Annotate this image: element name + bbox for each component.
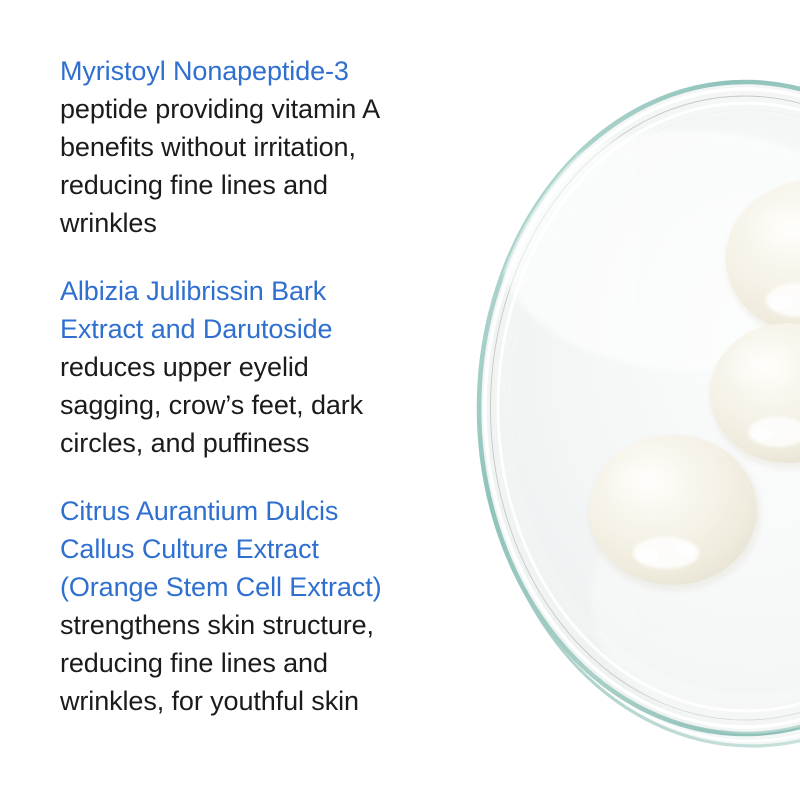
- droplet-top: [726, 180, 800, 342]
- ingredient-item: Myristoyl Nonapeptide-3 peptide providin…: [60, 52, 472, 242]
- ingredient-description: peptide providing vitamin A benefits wit…: [60, 90, 472, 242]
- dish-rim: [479, 82, 800, 734]
- dish-interior: [500, 114, 800, 740]
- ingredient-item: Albizia Julibrissin Bark Extract and Dar…: [60, 272, 472, 462]
- ingredient-name: Citrus Aurantium Dulcis Callus Culture E…: [60, 492, 472, 606]
- droplet-middle: [710, 323, 800, 469]
- product-ingredient-panel: Myristoyl Nonapeptide-3 peptide providin…: [0, 0, 800, 800]
- ingredient-list: Myristoyl Nonapeptide-3 peptide providin…: [60, 52, 472, 720]
- ingredient-name: Myristoyl Nonapeptide-3: [60, 52, 472, 90]
- ingredient-item: Citrus Aurantium Dulcis Callus Culture E…: [60, 492, 472, 720]
- ingredient-name: Albizia Julibrissin Bark Extract and Dar…: [60, 272, 472, 348]
- ingredient-description: reduces upper eyelid sagging, crow’s fee…: [60, 348, 472, 462]
- dish-inner-lip: [506, 110, 800, 702]
- dish-glass-body: [483, 87, 800, 746]
- ingredient-description: strengthens skin structure, reducing fin…: [60, 606, 472, 720]
- droplet-bottom: [589, 435, 761, 591]
